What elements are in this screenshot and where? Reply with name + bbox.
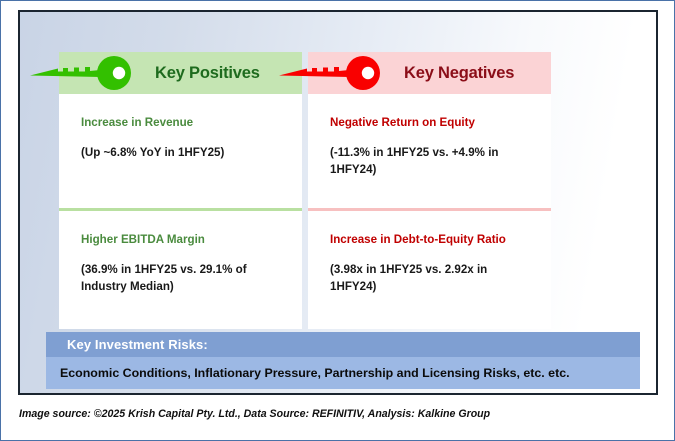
risks-body-label: Economic Conditions, Inflationary Pressu… [60, 366, 570, 380]
slide-canvas: Key Positives Increase in Revenue (Up ~6… [18, 10, 658, 395]
positive-item-1-detail: (Up ~6.8% YoY in 1HFY25) [81, 144, 284, 161]
negative-item-1: Negative Return on Equity (-11.3% in 1HF… [308, 94, 551, 208]
positive-item-1: Increase in Revenue (Up ~6.8% YoY in 1HF… [59, 94, 302, 208]
positive-item-2-title: Higher EBITDA Margin [81, 233, 284, 247]
negative-item-2-detail: (3.98x in 1HFY25 vs. 2.92x in 1HFY24) [330, 261, 533, 296]
column-header-label: Key Positives [155, 64, 260, 83]
risks-heading-bar: Key Investment Risks: [46, 332, 640, 357]
positive-item-1-title: Increase in Revenue [81, 116, 284, 130]
footer: Image source: ©2025 Krish Capital Pty. L… [19, 404, 659, 422]
key-icon [30, 56, 150, 90]
negative-item-1-title: Negative Return on Equity [330, 116, 533, 130]
risks-body-bar: Economic Conditions, Inflationary Pressu… [46, 357, 640, 389]
column-key-positives: Key Positives Increase in Revenue (Up ~6… [59, 52, 302, 329]
key-investment-risks-banner: Key Investment Risks: Economic Condition… [46, 332, 640, 389]
column-header-key-positives: Key Positives [59, 52, 302, 94]
risks-heading-label: Key Investment Risks: [67, 337, 208, 352]
negative-item-1-detail: (-11.3% in 1HFY25 vs. +4.9% in 1HFY24) [330, 144, 533, 179]
slide-frame: Key Positives Increase in Revenue (Up ~6… [0, 0, 675, 441]
negative-item-2-title: Increase in Debt-to-Equity Ratio [330, 233, 533, 247]
positive-item-2-detail: (36.9% in 1HFY25 vs. 29.1% of Industry M… [81, 261, 284, 296]
column-header-label: Key Negatives [404, 64, 514, 83]
column-header-key-negatives: Key Negatives [308, 52, 551, 94]
negative-item-2: Increase in Debt-to-Equity Ratio (3.98x … [308, 211, 551, 329]
positive-item-2: Higher EBITDA Margin (36.9% in 1HFY25 vs… [59, 211, 302, 329]
footer-source-text: Image source: ©2025 Krish Capital Pty. L… [19, 408, 490, 420]
column-key-negatives: Key Negatives Negative Return on Equity … [308, 52, 551, 329]
